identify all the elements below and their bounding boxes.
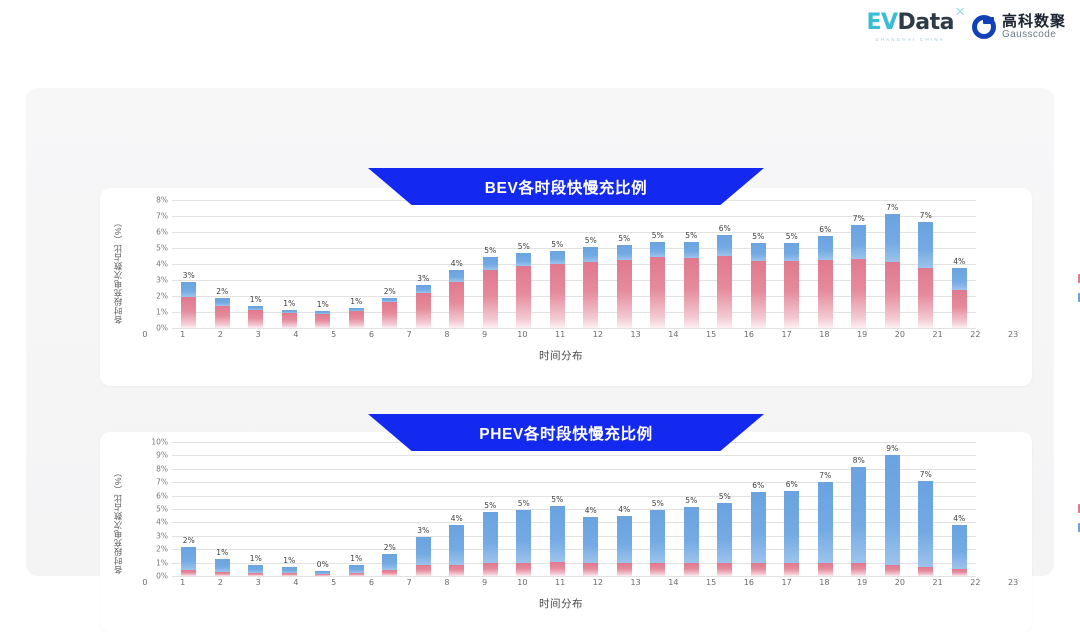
stacked-bar[interactable] [248, 565, 263, 576]
evdata-ev-text: EV [866, 10, 897, 35]
x-axis-tick-label: 23 [994, 578, 1032, 587]
stacked-bar[interactable] [952, 525, 967, 576]
x-axis-tick-label: 12 [579, 578, 617, 587]
stacked-bar[interactable] [918, 222, 933, 328]
bar-segment-slow-charge [583, 517, 598, 563]
bar-segment-slow-charge [784, 491, 799, 563]
x-axis-tick-label: 5 [315, 330, 353, 339]
bar-slot[interactable]: 5% [574, 200, 608, 328]
bar-value-label: 2% [384, 287, 396, 296]
y-axis-tick-label: 10% [146, 438, 168, 447]
bar-value-label: 5% [585, 236, 597, 245]
bar-value-label: 5% [484, 246, 496, 255]
bar-slot[interactable]: 1% [340, 442, 374, 576]
stacked-bar[interactable] [349, 308, 364, 328]
bar-slot[interactable]: 5% [541, 442, 575, 576]
stacked-bar[interactable] [550, 251, 565, 328]
x-axis-tick-label: 11 [541, 578, 579, 587]
bar-segment-fast-charge [784, 563, 799, 576]
stacked-bar[interactable] [583, 517, 598, 576]
bar-value-label: 1% [283, 556, 295, 565]
stacked-bar[interactable] [784, 243, 799, 328]
bar-segment-fast-charge [181, 297, 196, 328]
bar-value-label: 4% [451, 259, 463, 268]
y-axis-tick-label: 1% [146, 558, 168, 567]
bar-segment-fast-charge [650, 563, 665, 576]
bar-segment-slow-charge [181, 547, 196, 570]
bar-segment-fast-charge [483, 270, 498, 328]
stacked-bar[interactable] [684, 507, 699, 576]
x-axis-tick-label: 4 [277, 330, 315, 339]
x-axis-ticks-bev: 01234567891011121314151617181920212223 [126, 330, 1032, 339]
chart-card-phev: 各时段充电次数占比（%） 0%1%2%3%4%5%6%7%8%9%10%2%1%… [100, 432, 1032, 632]
gridline [172, 576, 976, 577]
bar-segment-fast-charge [215, 572, 230, 576]
stacked-bar[interactable] [784, 491, 799, 576]
bar-value-label: 3% [417, 526, 429, 535]
bar-slot[interactable]: 3% [172, 200, 206, 328]
bar-segment-slow-charge [483, 257, 498, 271]
x-axis-tick-label: 3 [239, 330, 277, 339]
bar-group: 3%2%1%1%1%1%2%3%4%5%5%5%5%5%5%5%6%5%5%6%… [172, 200, 976, 328]
x-axis-tick-label: 0 [126, 578, 164, 587]
stacked-bar[interactable] [215, 559, 230, 576]
stacked-bar[interactable] [315, 311, 330, 328]
y-axis-title-bev: 各时段充电次数占比（%） [112, 206, 124, 324]
bar-segment-slow-charge [382, 554, 397, 570]
bar-segment-fast-charge [550, 264, 565, 328]
bar-segment-slow-charge [650, 510, 665, 563]
x-axis-tick-label: 7 [390, 578, 428, 587]
bar-segment-fast-charge [851, 259, 866, 328]
stacked-bar[interactable] [382, 554, 397, 576]
bar-segment-slow-charge [550, 251, 565, 264]
y-axis-tick-label: 4% [146, 518, 168, 527]
gausscode-cn-text: 高科数聚 [1002, 14, 1066, 30]
bar-value-label: 4% [953, 257, 965, 266]
bar-slot[interactable]: 6% [775, 442, 809, 576]
page-header: EVData✕ SHANGHAI CHINA 高科数聚 Gausscode [0, 0, 1080, 62]
x-axis-tick-label: 10 [504, 330, 542, 339]
stacked-bar[interactable] [818, 482, 833, 576]
bar-slot[interactable]: 3% [407, 442, 441, 576]
bar-value-label: 4% [451, 514, 463, 523]
bar-slot[interactable]: 1% [239, 200, 273, 328]
stacked-bar[interactable] [717, 235, 732, 328]
stacked-bar[interactable] [449, 270, 464, 328]
bar-value-label: 5% [652, 499, 664, 508]
y-axis-tick-label: 8% [146, 196, 168, 205]
bar-slot[interactable]: 6% [809, 200, 843, 328]
bar-segment-slow-charge [818, 482, 833, 562]
bar-slot[interactable]: 2% [172, 442, 206, 576]
bar-segment-fast-charge [449, 282, 464, 328]
bar-value-label: 2% [216, 287, 228, 296]
stacked-bar[interactable] [918, 481, 933, 576]
bar-slot[interactable]: 5% [742, 200, 776, 328]
bar-segment-slow-charge [248, 565, 263, 573]
bar-value-label: 7% [920, 470, 932, 479]
bar-slot[interactable]: 5% [507, 200, 541, 328]
bar-segment-fast-charge [617, 563, 632, 576]
stacked-bar[interactable] [483, 257, 498, 328]
stacked-bar[interactable] [650, 242, 665, 328]
bar-slot[interactable]: 1% [239, 442, 273, 576]
stacked-bar[interactable] [885, 214, 900, 328]
y-axis-tick-label: 6% [146, 228, 168, 237]
bar-segment-fast-charge [650, 257, 665, 328]
bar-segment-slow-charge [181, 282, 196, 297]
bar-value-label: 1% [216, 548, 228, 557]
stacked-bar[interactable] [416, 285, 431, 328]
bar-slot[interactable]: 4% [608, 442, 642, 576]
stacked-bar[interactable] [851, 225, 866, 328]
bar-segment-slow-charge [751, 492, 766, 563]
bar-slot[interactable]: 4% [943, 200, 977, 328]
bar-segment-slow-charge [952, 525, 967, 569]
bar-segment-slow-charge [918, 222, 933, 268]
bar-value-label: 7% [886, 203, 898, 212]
bar-value-label: 6% [786, 480, 798, 489]
bar-slot[interactable]: 6% [708, 200, 742, 328]
bar-segment-fast-charge [382, 302, 397, 328]
y-axis-tick-label: 1% [146, 308, 168, 317]
bar-segment-fast-charge [181, 570, 196, 576]
bar-segment-slow-charge [449, 525, 464, 565]
bar-slot[interactable]: 7% [809, 442, 843, 576]
x-axis-tick-label: 11 [541, 330, 579, 339]
stacked-bar[interactable] [550, 506, 565, 576]
bar-value-label: 1% [350, 297, 362, 306]
x-axis-title-phev: 时间分布 [146, 596, 976, 611]
bar-segment-fast-charge [784, 261, 799, 328]
y-axis-tick-label: 7% [146, 212, 168, 221]
stacked-bar[interactable] [516, 253, 531, 328]
bar-segment-slow-charge [885, 455, 900, 565]
evdata-tagline: SHANGHAI CHINA [875, 37, 945, 42]
bar-slot[interactable]: 8% [842, 442, 876, 576]
bar-slot[interactable]: 5% [641, 442, 675, 576]
stacked-bar[interactable] [617, 245, 632, 328]
bar-slot[interactable]: 5% [775, 200, 809, 328]
bar-slot[interactable]: 5% [675, 442, 709, 576]
bar-value-label: 4% [618, 505, 630, 514]
bar-segment-fast-charge [282, 573, 297, 576]
bar-segment-fast-charge [885, 262, 900, 328]
x-axis-tick-label: 9 [466, 578, 504, 587]
bar-slot[interactable]: 1% [306, 200, 340, 328]
bar-segment-slow-charge [215, 559, 230, 572]
stacked-bar[interactable] [952, 268, 967, 328]
stacked-bar[interactable] [516, 510, 531, 576]
bar-segment-slow-charge [416, 537, 431, 565]
bar-segment-slow-charge [717, 235, 732, 256]
x-axis-tick-label: 19 [843, 578, 881, 587]
logo-group: EVData✕ SHANGHAI CHINA 高科数聚 Gausscode [866, 12, 1066, 42]
bar-value-label: 5% [752, 232, 764, 241]
bar-value-label: 1% [317, 300, 329, 309]
bar-segment-fast-charge [818, 563, 833, 576]
bar-segment-slow-charge [583, 247, 598, 261]
x-axis-tick-label: 21 [919, 330, 957, 339]
y-axis-tick-label: 3% [146, 276, 168, 285]
bar-segment-fast-charge [583, 563, 598, 576]
gausscode-mark-icon [972, 15, 996, 39]
bar-segment-fast-charge [952, 569, 967, 576]
y-axis-tick-label: 2% [146, 292, 168, 301]
gausscode-en-text: Gausscode [1002, 30, 1066, 41]
bar-slot[interactable]: 5% [641, 200, 675, 328]
bar-segment-slow-charge [550, 506, 565, 562]
stacked-bar[interactable] [215, 298, 230, 328]
stacked-bar[interactable] [181, 547, 196, 576]
y-axis-tick-label: 8% [146, 464, 168, 473]
bar-segment-fast-charge [416, 293, 431, 328]
y-axis-tick-label: 6% [146, 491, 168, 500]
bar-slot[interactable]: 1% [340, 200, 374, 328]
bar-slot[interactable]: 7% [876, 200, 910, 328]
bar-segment-fast-charge [918, 567, 933, 576]
x-axis-tick-label: 7 [390, 330, 428, 339]
evdata-x-icon: ✕ [955, 6, 965, 19]
bar-slot[interactable]: 7% [909, 442, 943, 576]
content-panel: BEV各时段快慢充比例 PHEV各时段快慢充比例 各时段充电次数占比（%） 0%… [26, 88, 1054, 576]
bar-value-label: 0% [317, 560, 329, 569]
bar-segment-slow-charge [449, 270, 464, 282]
bar-value-label: 4% [585, 506, 597, 515]
bar-value-label: 1% [283, 299, 295, 308]
bar-segment-fast-charge [516, 266, 531, 328]
x-axis-tick-label: 19 [843, 330, 881, 339]
stacked-bar[interactable] [751, 243, 766, 328]
bar-slot[interactable]: 4% [943, 442, 977, 576]
bar-segment-slow-charge [751, 243, 766, 261]
bar-value-label: 6% [719, 224, 731, 233]
bar-value-label: 3% [417, 274, 429, 283]
bar-segment-slow-charge [684, 507, 699, 563]
stacked-bar[interactable] [449, 525, 464, 576]
bar-segment-fast-charge [684, 258, 699, 328]
bar-segment-fast-charge [550, 562, 565, 576]
stacked-bar[interactable] [382, 298, 397, 328]
x-axis-tick-label: 10 [504, 578, 542, 587]
x-axis-tick-label: 1 [164, 330, 202, 339]
x-axis-tick-label: 23 [994, 330, 1032, 339]
bar-segment-fast-charge [952, 290, 967, 328]
stacked-bar[interactable] [684, 242, 699, 328]
bar-segment-slow-charge [617, 245, 632, 260]
y-axis-tick-label: 3% [146, 531, 168, 540]
bar-segment-slow-charge [516, 253, 531, 267]
bar-segment-fast-charge [918, 268, 933, 328]
stacked-bar[interactable] [416, 537, 431, 576]
gausscode-wordmark: 高科数聚 Gausscode [1002, 14, 1066, 40]
stacked-bar[interactable] [315, 571, 330, 576]
x-axis-tick-label: 21 [919, 578, 957, 587]
bar-value-label: 5% [484, 501, 496, 510]
bar-slot[interactable]: 9% [876, 442, 910, 576]
bar-value-label: 7% [920, 211, 932, 220]
bar-slot[interactable]: 1% [273, 442, 307, 576]
bar-segment-fast-charge [818, 260, 833, 328]
bar-segment-slow-charge [851, 225, 866, 259]
bar-slot[interactable]: 5% [474, 442, 508, 576]
bar-slot[interactable]: 2% [373, 200, 407, 328]
y-axis-tick-label: 2% [146, 545, 168, 554]
stacked-bar[interactable] [282, 310, 297, 328]
x-axis-ticks-phev: 01234567891011121314151617181920212223 [126, 578, 1032, 587]
y-axis-tick-label: 4% [146, 260, 168, 269]
x-axis-tick-label: 20 [881, 578, 919, 587]
x-axis-tick-label: 6 [353, 578, 391, 587]
bar-segment-slow-charge [851, 467, 866, 563]
bar-slot[interactable]: 5% [474, 200, 508, 328]
bar-value-label: 8% [853, 456, 865, 465]
bar-group: 2%1%1%1%0%1%2%3%4%5%5%5%4%4%5%5%5%6%6%7%… [172, 442, 976, 576]
bar-segment-fast-charge [751, 261, 766, 328]
stacked-bar[interactable] [349, 565, 364, 576]
stacked-bar[interactable] [583, 247, 598, 328]
bar-segment-slow-charge [818, 236, 833, 260]
bar-segment-fast-charge [349, 311, 364, 328]
bar-value-label: 5% [551, 495, 563, 504]
bar-value-label: 1% [250, 295, 262, 304]
bar-value-label: 5% [518, 242, 530, 251]
stacked-bar[interactable] [818, 236, 833, 328]
bar-value-label: 2% [183, 536, 195, 545]
bar-segment-slow-charge [717, 503, 732, 563]
bar-slot[interactable]: 1% [273, 200, 307, 328]
stacked-bar[interactable] [282, 567, 297, 576]
bar-value-label: 6% [752, 481, 764, 490]
bar-segment-fast-charge [751, 563, 766, 576]
bar-segment-slow-charge [684, 242, 699, 257]
stacked-bar[interactable] [617, 516, 632, 576]
y-axis-tick-label: 5% [146, 244, 168, 253]
bar-value-label: 5% [618, 234, 630, 243]
bar-segment-fast-charge [717, 256, 732, 328]
bar-slot[interactable]: 4% [574, 442, 608, 576]
gausscode-logo: 高科数聚 Gausscode [972, 14, 1066, 40]
x-axis-tick-label: 5 [315, 578, 353, 587]
bar-segment-fast-charge [315, 314, 330, 328]
bar-segment-slow-charge [617, 516, 632, 564]
stacked-bar[interactable] [885, 455, 900, 576]
bar-slot[interactable]: 7% [842, 200, 876, 328]
x-axis-tick-label: 14 [655, 578, 693, 587]
bar-value-label: 5% [685, 231, 697, 240]
bar-value-label: 5% [786, 232, 798, 241]
bar-slot[interactable]: 1% [206, 442, 240, 576]
bar-value-label: 4% [953, 514, 965, 523]
bar-segment-fast-charge [315, 574, 330, 576]
bar-value-label: 6% [819, 225, 831, 234]
bar-segment-fast-charge [483, 563, 498, 576]
bar-slot[interactable]: 4% [440, 200, 474, 328]
bar-slot[interactable]: 2% [206, 200, 240, 328]
bar-slot[interactable]: 0% [306, 442, 340, 576]
x-axis-tick-label: 8 [428, 578, 466, 587]
bar-slot[interactable]: 5% [708, 442, 742, 576]
chart-banner-phev: PHEV各时段快慢充比例 [368, 414, 764, 451]
bar-segment-fast-charge [248, 310, 263, 328]
bar-slot[interactable]: 7% [909, 200, 943, 328]
x-axis-tick-label: 6 [353, 330, 391, 339]
stacked-bar[interactable] [248, 306, 263, 328]
bar-segment-fast-charge [684, 563, 699, 576]
bar-value-label: 7% [853, 214, 865, 223]
stacked-bar[interactable] [717, 503, 732, 576]
x-axis-tick-label: 22 [957, 330, 995, 339]
x-axis-tick-label: 20 [881, 330, 919, 339]
x-axis-tick-label: 14 [655, 330, 693, 339]
bar-slot[interactable]: 5% [541, 200, 575, 328]
bar-segment-fast-charge [717, 563, 732, 576]
evdata-logo: EVData✕ SHANGHAI CHINA [866, 12, 954, 42]
bar-value-label: 3% [183, 271, 195, 280]
bar-value-label: 5% [685, 496, 697, 505]
bar-slot[interactable]: 5% [608, 200, 642, 328]
x-axis-tick-label: 18 [806, 578, 844, 587]
chart-bev: 各时段充电次数占比（%） 0%1%2%3%4%5%6%7%8%3%2%1%1%1… [100, 188, 1032, 386]
bar-slot[interactable]: 3% [407, 200, 441, 328]
bar-segment-fast-charge [349, 573, 364, 576]
x-axis-title-bev: 时间分布 [146, 348, 976, 363]
bar-segment-fast-charge [282, 313, 297, 328]
x-axis-tick-label: 3 [239, 578, 277, 587]
bar-value-label: 5% [719, 492, 731, 501]
bar-segment-slow-charge [650, 242, 665, 257]
x-axis-tick-label: 13 [617, 330, 655, 339]
bar-segment-fast-charge [449, 565, 464, 576]
bar-value-label: 1% [250, 554, 262, 563]
bar-segment-slow-charge [483, 512, 498, 562]
bar-segment-fast-charge [215, 306, 230, 328]
x-axis-tick-label: 12 [579, 330, 617, 339]
bar-segment-fast-charge [617, 260, 632, 328]
bar-value-label: 1% [350, 554, 362, 563]
x-axis-tick-label: 2 [202, 330, 240, 339]
stacked-bar[interactable] [751, 492, 766, 576]
chart-phev: 各时段充电次数占比（%） 0%1%2%3%4%5%6%7%8%9%10%2%1%… [100, 432, 1032, 632]
bar-segment-fast-charge [885, 565, 900, 576]
x-axis-tick-label: 9 [466, 330, 504, 339]
stacked-bar[interactable] [851, 467, 866, 576]
bar-segment-slow-charge [952, 268, 967, 290]
bar-value-label: 5% [518, 499, 530, 508]
x-axis-tick-label: 16 [730, 578, 768, 587]
stacked-bar[interactable] [181, 282, 196, 328]
bar-slot[interactable]: 2% [373, 442, 407, 576]
bar-segment-fast-charge [851, 563, 866, 576]
bar-slot[interactable]: 5% [507, 442, 541, 576]
chart-banner-bev: BEV各时段快慢充比例 [368, 168, 764, 205]
bar-slot[interactable]: 6% [742, 442, 776, 576]
y-axis-tick-label: 5% [146, 505, 168, 514]
stacked-bar[interactable] [650, 510, 665, 576]
bar-segment-slow-charge [918, 481, 933, 567]
bar-slot[interactable]: 4% [440, 442, 474, 576]
x-axis-tick-label: 8 [428, 330, 466, 339]
chart-card-bev: 各时段充电次数占比（%） 0%1%2%3%4%5%6%7%8%3%2%1%1%1… [100, 188, 1032, 386]
bar-segment-fast-charge [583, 262, 598, 328]
x-axis-tick-label: 15 [692, 578, 730, 587]
x-axis-tick-label: 4 [277, 578, 315, 587]
bar-slot[interactable]: 5% [675, 200, 709, 328]
plot-area-bev: 0%1%2%3%4%5%6%7%8%3%2%1%1%1%1%2%3%4%5%5%… [146, 200, 976, 328]
evdata-wordmark: EVData✕ [866, 12, 954, 34]
stacked-bar[interactable] [483, 512, 498, 576]
